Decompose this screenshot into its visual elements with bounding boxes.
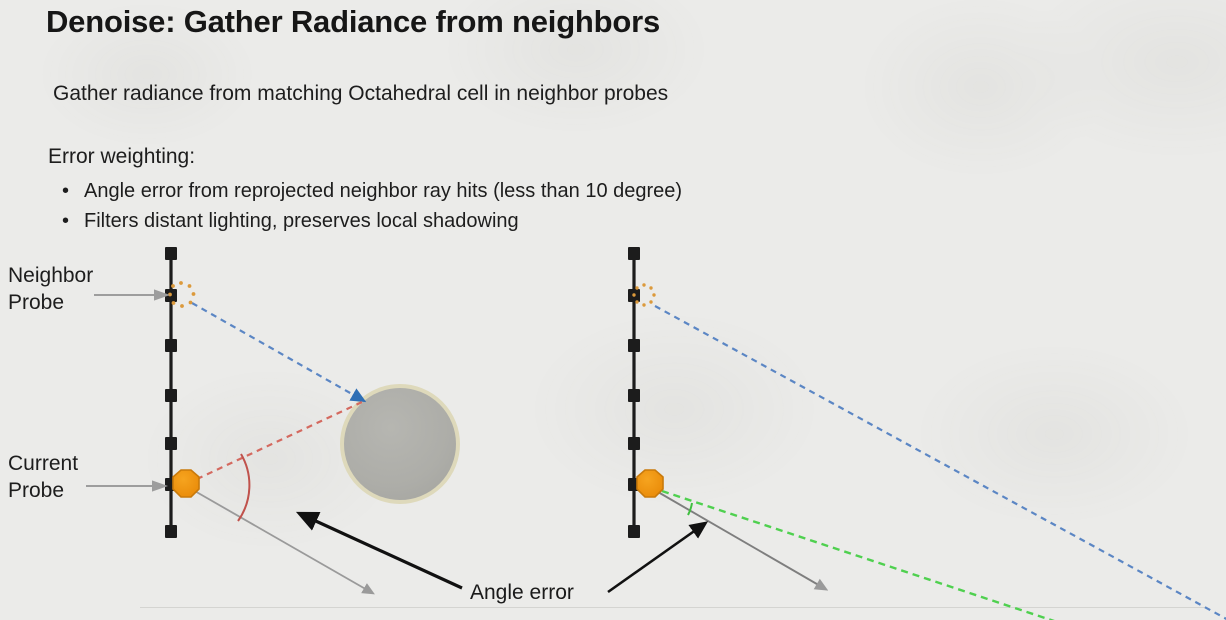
current-ray-left — [197, 402, 362, 479]
neighbor-ray-right — [655, 306, 1226, 620]
left-panel — [165, 247, 458, 591]
current-probe-marker-right — [637, 470, 663, 497]
angle-error-callout-left — [307, 517, 462, 588]
diagram-artwork — [0, 0, 1226, 620]
slide-canvas: Denoise: Gather Radiance from neighbors … — [0, 0, 1226, 620]
angle-error-callout-right — [608, 527, 700, 592]
neighbor-ray-left — [192, 303, 359, 398]
right-panel — [628, 247, 1226, 620]
view-ray-left — [193, 490, 369, 591]
current-probe-marker-left — [173, 470, 199, 497]
current-ray-right — [662, 491, 1226, 620]
angle-arc-left — [238, 454, 249, 521]
